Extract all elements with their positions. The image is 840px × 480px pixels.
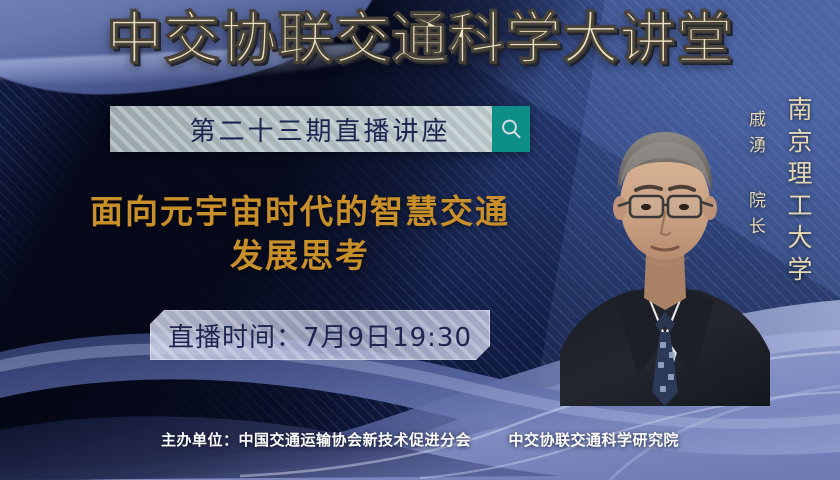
episode-bar[interactable]: 第二十三期直播讲座 — [110, 106, 530, 152]
speaker-university: 南京理工大学 — [780, 96, 816, 288]
episode-label: 第二十三期直播讲座 — [151, 111, 450, 148]
live-stream-poster: 中交协联交通科学大讲堂 第二十三期直播讲座 面向元宇宙时代的智慧交通 发展思考 … — [0, 0, 840, 480]
lecture-headline: 面向元宇宙时代的智慧交通 发展思考 — [40, 190, 560, 278]
poster-title: 中交协联交通科学大讲堂 — [0, 12, 840, 68]
broadcast-time-label: 直播时间：7月9日19:30 — [168, 317, 472, 354]
speaker-name-title: 戚湧 院长 — [743, 110, 768, 243]
episode-bar-body: 第二十三期直播讲座 — [110, 106, 492, 152]
organizer-primary: 主办单位：中国交通运输协会新技术促进分会 — [161, 431, 471, 449]
search-icon[interactable] — [492, 106, 530, 152]
speaker-portrait — [560, 76, 770, 406]
organizer-secondary: 中交协联交通科学研究院 — [508, 431, 679, 449]
broadcast-time-chip: 直播时间：7月9日19:30 — [150, 310, 490, 360]
headline-line-1: 面向元宇宙时代的智慧交通 — [90, 192, 510, 231]
headline-line-2: 发展思考 — [40, 234, 560, 278]
organizer-footer: 主办单位：中国交通运输协会新技术促进分会 中交协联交通科学研究院 — [0, 429, 840, 450]
